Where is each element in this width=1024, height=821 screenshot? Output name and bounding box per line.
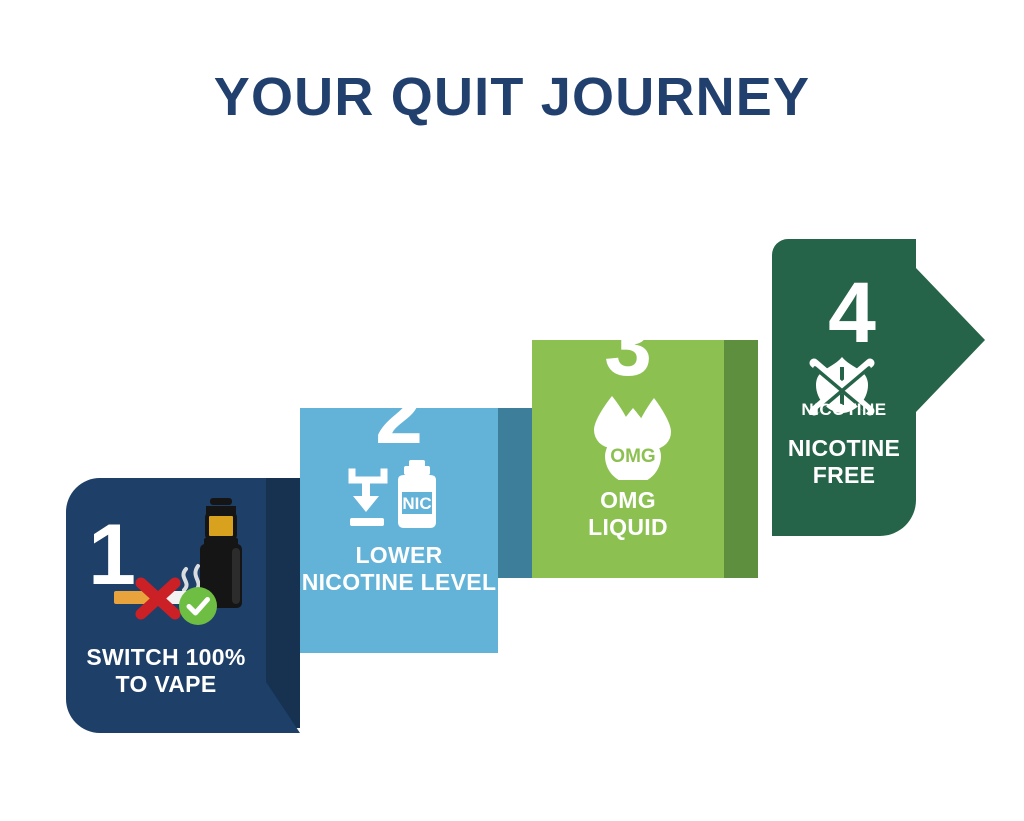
step-4-number: 4 xyxy=(812,270,892,356)
step-2-caption: LOWER NICOTINE LEVEL xyxy=(296,542,502,596)
step-4-caption: NICOTINE FREE xyxy=(772,435,916,489)
step-3-caption: OMG LIQUID xyxy=(532,487,724,541)
droplet-label: OMG xyxy=(610,446,655,467)
nic-bottle-label: NIC xyxy=(402,494,431,513)
nicotine-bottle-icon: NIC xyxy=(390,460,444,530)
down-arrow-icon xyxy=(344,466,396,528)
no-nicotine-leaf-label: NICOTINE xyxy=(772,400,916,420)
step-1-caption: SWITCH 100% TO VAPE xyxy=(66,644,266,698)
step-3-number: 3 xyxy=(588,303,668,389)
infographic-canvas: YOUR QUIT JOURNEY 1 xyxy=(0,0,1024,821)
step-2-number: 2 xyxy=(359,371,439,457)
green-check-icon xyxy=(178,586,218,626)
liquid-droplets-icon: OMG xyxy=(586,392,682,480)
quit-journey-infographic: 1 xyxy=(0,0,1024,821)
